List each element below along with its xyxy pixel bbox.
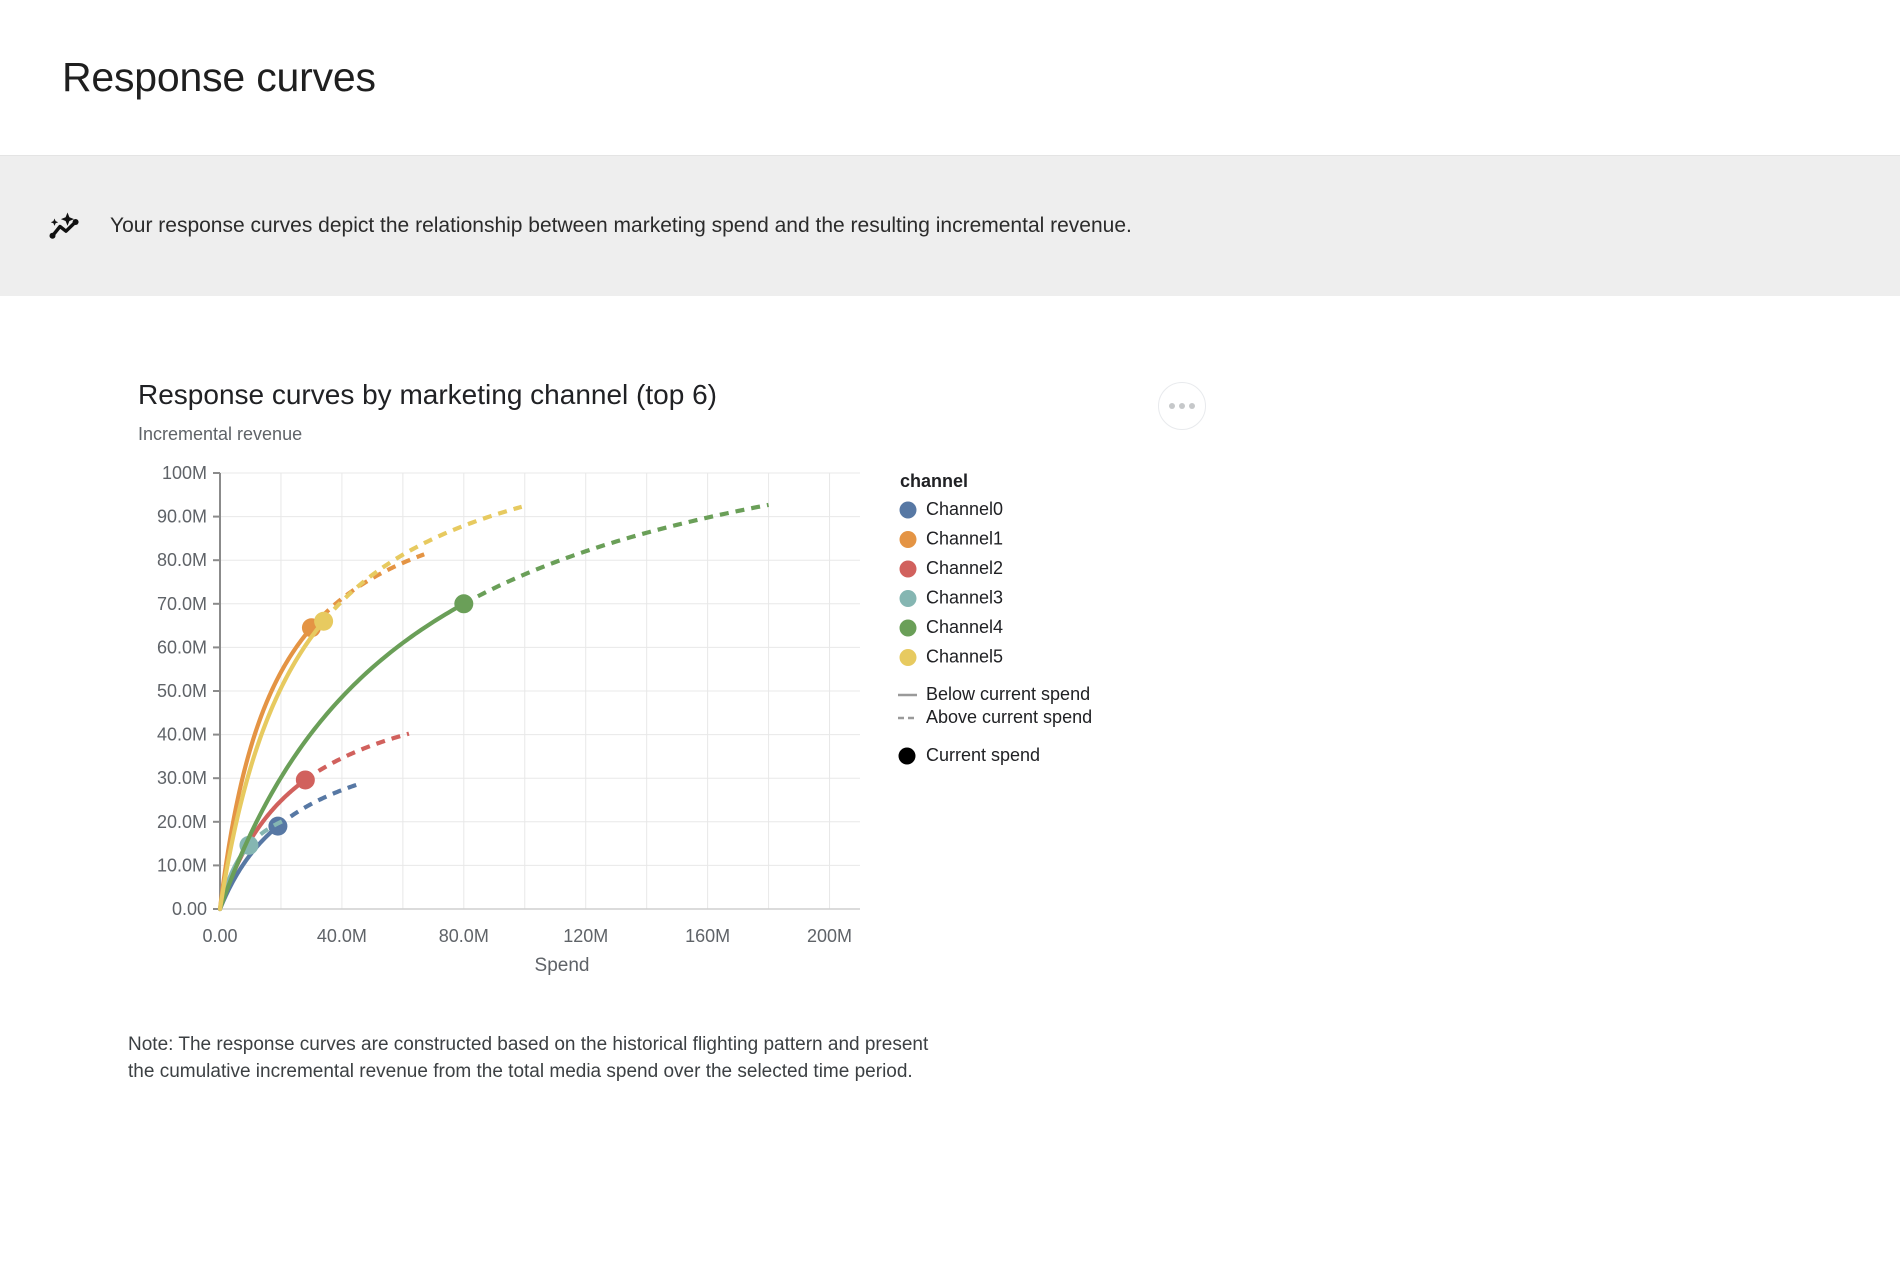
legend-item-label: Channel4 — [926, 617, 1003, 637]
legend-swatch — [900, 619, 917, 636]
response-curves-card: Response curves by marketing channel (to… — [138, 378, 1298, 1005]
svg-text:60.0M: 60.0M — [157, 637, 207, 657]
x-axis-title: Spend — [535, 955, 590, 976]
legend-swatch — [900, 590, 917, 607]
current-spend-marker — [296, 770, 315, 789]
page-header: Response curves — [0, 0, 1900, 156]
svg-text:40.0M: 40.0M — [317, 926, 367, 946]
legend-style-label: Above current spend — [926, 707, 1092, 727]
svg-text:100M: 100M — [162, 465, 207, 483]
chart-series — [220, 504, 769, 908]
svg-text:0.00: 0.00 — [172, 899, 207, 919]
legend-dot-icon — [899, 747, 916, 764]
chart-subtitle: Incremental revenue — [138, 424, 717, 445]
svg-text:50.0M: 50.0M — [157, 681, 207, 701]
chart-svg[interactable]: 0.0010.0M20.0M30.0M40.0M50.0M60.0M70.0M8… — [138, 465, 1258, 1005]
current-spend-marker — [314, 611, 333, 630]
legend-item-label: Channel2 — [926, 558, 1003, 578]
current-spend-marker — [268, 816, 287, 835]
legend-swatch — [900, 531, 917, 548]
svg-text:160M: 160M — [685, 926, 730, 946]
svg-text:200M: 200M — [807, 926, 852, 946]
svg-text:70.0M: 70.0M — [157, 593, 207, 613]
page-title: Response curves — [62, 54, 376, 101]
main-content: Response curves by marketing channel (to… — [0, 296, 1900, 1086]
x-axis-ticks: 0.0040.0M80.0M120M160M200M — [202, 926, 852, 946]
svg-text:10.0M: 10.0M — [157, 855, 207, 875]
legend-item-label: Channel5 — [926, 646, 1003, 666]
card-options-button[interactable] — [1158, 382, 1206, 430]
svg-text:90.0M: 90.0M — [157, 506, 207, 526]
svg-text:20.0M: 20.0M — [157, 811, 207, 831]
legend-item-label: Channel0 — [926, 499, 1003, 519]
legend-style-label: Current spend — [926, 745, 1040, 765]
legend-style-label: Below current spend — [926, 684, 1090, 704]
svg-text:0.00: 0.00 — [202, 926, 237, 946]
legend-title: channel — [900, 471, 968, 491]
legend-item-label: Channel3 — [926, 587, 1003, 607]
svg-text:120M: 120M — [563, 926, 608, 946]
auto-insights-sparkle-icon — [42, 203, 88, 249]
insight-text: Your response curves depict the relation… — [110, 214, 1132, 238]
chart-title: Response curves by marketing channel (to… — [138, 378, 717, 412]
card-header: Response curves by marketing channel (to… — [138, 378, 1298, 445]
kebab-dot-icon — [1169, 403, 1175, 409]
legend-item-label: Channel1 — [926, 528, 1003, 548]
svg-text:80.0M: 80.0M — [439, 926, 489, 946]
series-dashed-segment — [305, 733, 409, 779]
legend-swatch — [900, 501, 917, 518]
svg-text:30.0M: 30.0M — [157, 768, 207, 788]
svg-text:40.0M: 40.0M — [157, 724, 207, 744]
response-curves-chart[interactable]: 0.0010.0M20.0M30.0M40.0M50.0M60.0M70.0M8… — [138, 465, 1258, 1005]
y-axis-ticks: 0.0010.0M20.0M30.0M40.0M50.0M60.0M70.0M8… — [157, 465, 220, 919]
insight-banner: Your response curves depict the relation… — [0, 156, 1900, 296]
series-dashed-segment — [464, 504, 769, 603]
chart-note: Note: The response curves are constructe… — [128, 1031, 958, 1086]
chart-gridlines — [220, 473, 860, 909]
legend-swatch — [900, 560, 917, 577]
svg-text:80.0M: 80.0M — [157, 550, 207, 570]
legend-swatch — [900, 649, 917, 666]
chart-legend: channelChannel0Channel1Channel2Channel3C… — [898, 471, 1092, 765]
kebab-dot-icon — [1189, 403, 1195, 409]
current-spend-marker — [454, 594, 473, 613]
kebab-dot-icon — [1179, 403, 1185, 409]
